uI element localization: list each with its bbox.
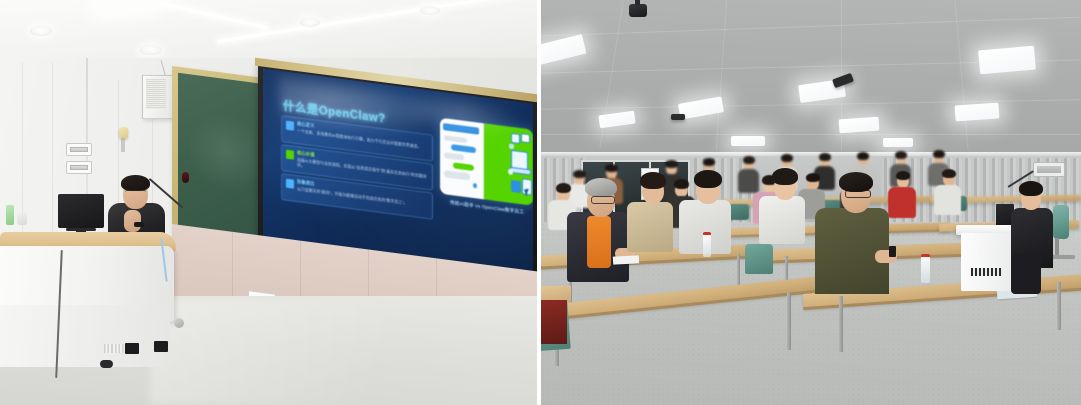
hair bbox=[781, 154, 793, 162]
cabinet-vents bbox=[971, 268, 1001, 276]
hair bbox=[857, 152, 869, 160]
hair bbox=[819, 153, 831, 161]
torso bbox=[759, 196, 805, 244]
eyeglasses-icon bbox=[591, 196, 615, 204]
water-bottle bbox=[921, 254, 930, 283]
wristwatch bbox=[134, 222, 144, 227]
lectern-monitor bbox=[58, 194, 104, 228]
box-icon bbox=[511, 180, 521, 193]
eyeglasses-icon bbox=[845, 190, 871, 198]
chat-send-icon bbox=[473, 183, 477, 189]
ceiling-projector bbox=[671, 114, 685, 120]
side-cabinet bbox=[541, 300, 567, 344]
water-bottle bbox=[703, 232, 711, 257]
ceiling-grid-line bbox=[541, 134, 1081, 135]
torso bbox=[627, 202, 673, 252]
cup bbox=[17, 212, 27, 225]
hair bbox=[772, 168, 798, 185]
notebook bbox=[613, 255, 639, 264]
document-icon bbox=[521, 133, 529, 144]
hair bbox=[933, 150, 945, 158]
hair bbox=[895, 151, 907, 159]
desk-leg bbox=[1057, 282, 1061, 330]
audience-classroom-photo bbox=[541, 0, 1081, 405]
hair bbox=[556, 183, 571, 193]
ceiling-panel-light bbox=[883, 138, 913, 147]
torso bbox=[738, 169, 759, 193]
water-bottle bbox=[6, 205, 14, 225]
hair bbox=[1019, 181, 1043, 196]
hair bbox=[640, 172, 666, 189]
chat-bubble bbox=[444, 152, 464, 160]
ceiling-downlight bbox=[420, 6, 440, 15]
wall-seam bbox=[52, 62, 53, 252]
hair bbox=[942, 169, 956, 178]
presenter-hands bbox=[124, 210, 141, 232]
ceiling-downlight bbox=[30, 26, 52, 36]
hair bbox=[839, 172, 873, 192]
hair bbox=[896, 171, 910, 180]
monitor-stand bbox=[66, 228, 96, 231]
bullet-icon-analogy bbox=[286, 179, 294, 189]
hair bbox=[573, 170, 586, 178]
laptop-icon bbox=[511, 150, 528, 170]
lecture-speaker-photo: 什么是OpenClaw? 核心定义 一个全新、多场景的AI智能体执行引擎，助力千… bbox=[0, 0, 537, 405]
chat-bubble bbox=[451, 144, 475, 153]
hair bbox=[674, 179, 689, 189]
floor-reflection bbox=[150, 300, 537, 405]
hair bbox=[665, 160, 678, 168]
ceiling-panel-light bbox=[731, 136, 765, 146]
lectern-vent bbox=[154, 341, 168, 352]
hair bbox=[743, 156, 755, 164]
image-root: 什么是OpenClaw? 核心定义 一个全新、多场景的AI智能体执行引擎，助力千… bbox=[0, 0, 1081, 405]
chat-bubble bbox=[453, 162, 474, 171]
bullet-icon-core-value bbox=[286, 150, 294, 160]
spark-icon bbox=[509, 143, 513, 149]
lectern-caster bbox=[174, 318, 184, 328]
hair bbox=[585, 178, 617, 197]
eyeglasses-icon bbox=[125, 190, 146, 196]
lectern-base bbox=[0, 305, 170, 367]
wall-control-panel[interactable] bbox=[66, 143, 92, 156]
wall-control-panel[interactable] bbox=[66, 161, 92, 174]
hair bbox=[703, 158, 715, 166]
presenter-hair bbox=[121, 175, 150, 191]
torso bbox=[888, 187, 916, 218]
desk-leg bbox=[839, 296, 843, 352]
gear-icon bbox=[508, 168, 513, 175]
shirt bbox=[587, 216, 611, 268]
hair bbox=[605, 164, 618, 172]
ceiling-camera-icon bbox=[629, 4, 647, 17]
operator-chair-back bbox=[1053, 205, 1069, 239]
legs bbox=[1011, 254, 1041, 294]
lectern-slots bbox=[104, 344, 124, 353]
ceiling-panel-light bbox=[839, 117, 880, 134]
ceiling-panel-light bbox=[978, 46, 1036, 75]
lectern-foot bbox=[100, 360, 113, 368]
ceiling-downlight bbox=[140, 45, 162, 55]
torso bbox=[934, 185, 961, 215]
microphone-head bbox=[182, 172, 189, 183]
wall-control-panel[interactable] bbox=[1033, 162, 1065, 177]
mobile-phone[interactable] bbox=[889, 246, 896, 257]
ceiling-panel-light bbox=[954, 102, 999, 121]
chair bbox=[745, 244, 773, 274]
hair bbox=[806, 173, 820, 182]
desk-leg bbox=[787, 292, 791, 350]
chat-bubble bbox=[444, 171, 470, 180]
lectern-vent bbox=[125, 343, 139, 354]
hair bbox=[694, 170, 722, 188]
ceiling-downlight bbox=[300, 18, 320, 27]
wall-hook-strap bbox=[121, 138, 125, 152]
operator-cabinet bbox=[961, 233, 1017, 291]
